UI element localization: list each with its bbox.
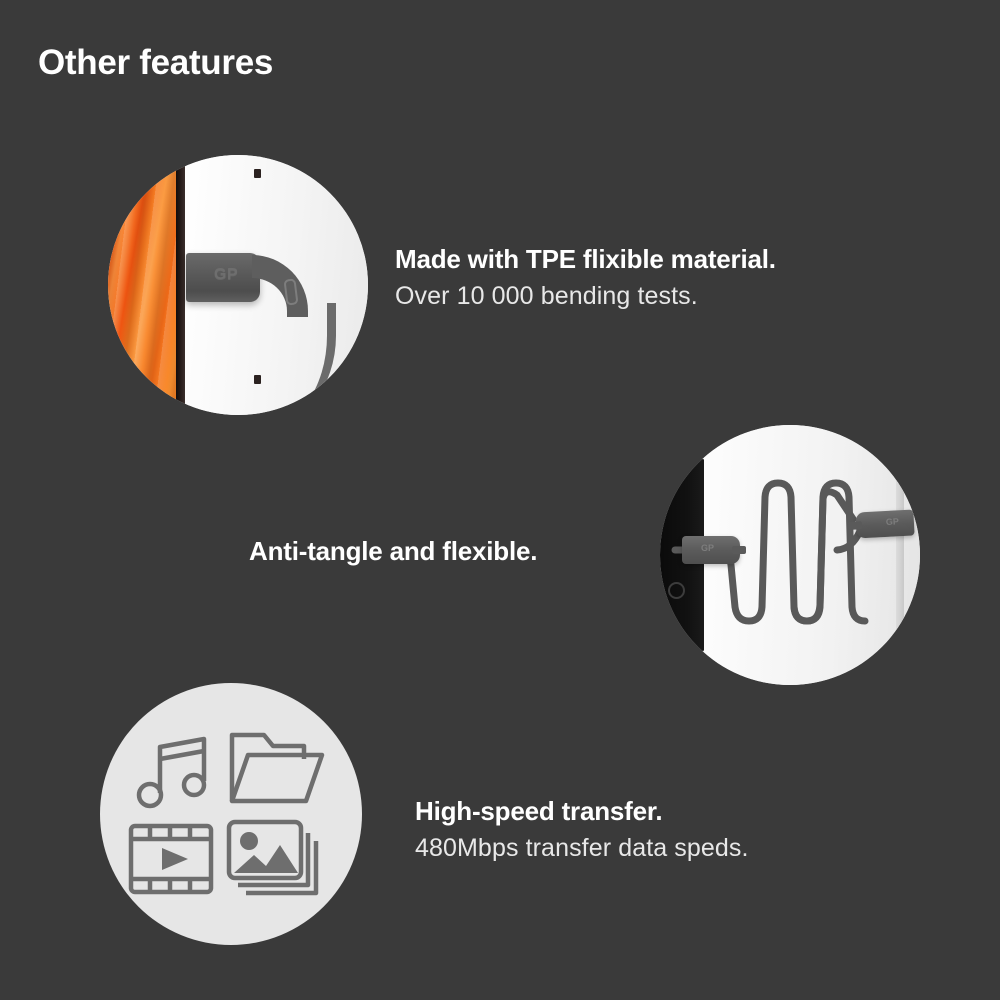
film-strip-icon xyxy=(128,823,214,895)
media-icon-grid xyxy=(100,683,362,945)
music-note-icon xyxy=(132,733,218,813)
feature-image-high-speed-transfer xyxy=(100,683,362,945)
feature-image-anti-tangle: GP GP xyxy=(660,425,920,685)
feature-title: Anti-tangle and flexible. xyxy=(249,535,537,568)
feature-text-high-speed-transfer: High-speed transfer. 480Mbps transfer da… xyxy=(415,795,749,864)
page-title: Other features xyxy=(38,44,273,83)
connector-right-nub xyxy=(848,521,862,530)
usb-connector-right: GP xyxy=(855,510,914,539)
feature-text-tpe-material: Made with TPE flixible material. Over 10… xyxy=(395,243,776,312)
infographic-page: Other features GP Made with TPE flixible… xyxy=(0,0,1000,1000)
connector-left-nub xyxy=(732,546,746,554)
feature-subtitle: 480Mbps transfer data speds. xyxy=(415,832,749,865)
cable-tail xyxy=(322,401,331,415)
phone-side-button-top xyxy=(254,169,261,178)
connector-brand-logo: GP xyxy=(214,266,238,284)
feature-title: Made with TPE flixible material. xyxy=(395,243,776,276)
connector-left-logo: GP xyxy=(701,543,714,553)
phone-wallpaper-orange xyxy=(108,155,176,415)
usb-connector-left: GP xyxy=(682,536,740,564)
feature-subtitle: Over 10 000 bending tests. xyxy=(395,280,776,313)
phone-bezel xyxy=(176,155,185,415)
feature-title: High-speed transfer. xyxy=(415,795,749,828)
connector-right-logo: GP xyxy=(886,516,900,527)
folder-icon xyxy=(228,729,326,809)
feature-text-anti-tangle: Anti-tangle and flexible. xyxy=(249,535,537,568)
feature-image-tpe-material: GP xyxy=(108,155,368,415)
usb-connector-head: GP xyxy=(186,253,260,302)
photos-icon xyxy=(226,819,326,901)
